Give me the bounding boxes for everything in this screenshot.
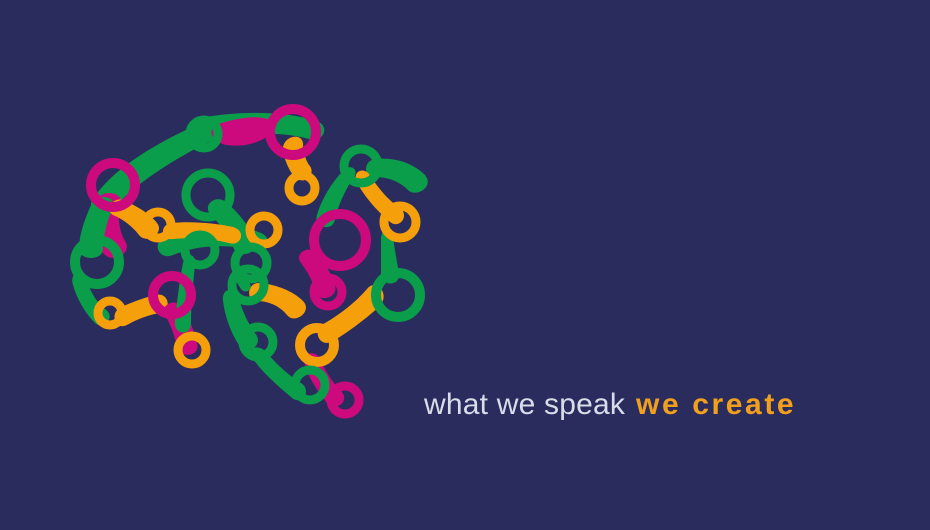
node-green-n21	[243, 327, 273, 357]
logo-nodes	[75, 109, 420, 414]
tagline-light-text: what we speak	[424, 388, 625, 422]
node-orange-n14	[98, 301, 122, 325]
node-magenta-n12	[314, 214, 366, 266]
node-orange-n8	[250, 216, 278, 244]
node-green-n11	[185, 235, 215, 265]
node-orange-n5	[289, 175, 315, 201]
brain-network-logo-svg	[55, 95, 445, 425]
tagline: what we speak we create	[424, 388, 796, 424]
tagline-accent-text: we create	[636, 388, 796, 422]
node-green-n22	[295, 370, 325, 400]
screen-canvas: what we speak we create	[0, 0, 930, 530]
brain-network-logo	[55, 95, 445, 425]
node-green-n4	[186, 173, 230, 217]
node-magenta-n23	[331, 386, 359, 414]
